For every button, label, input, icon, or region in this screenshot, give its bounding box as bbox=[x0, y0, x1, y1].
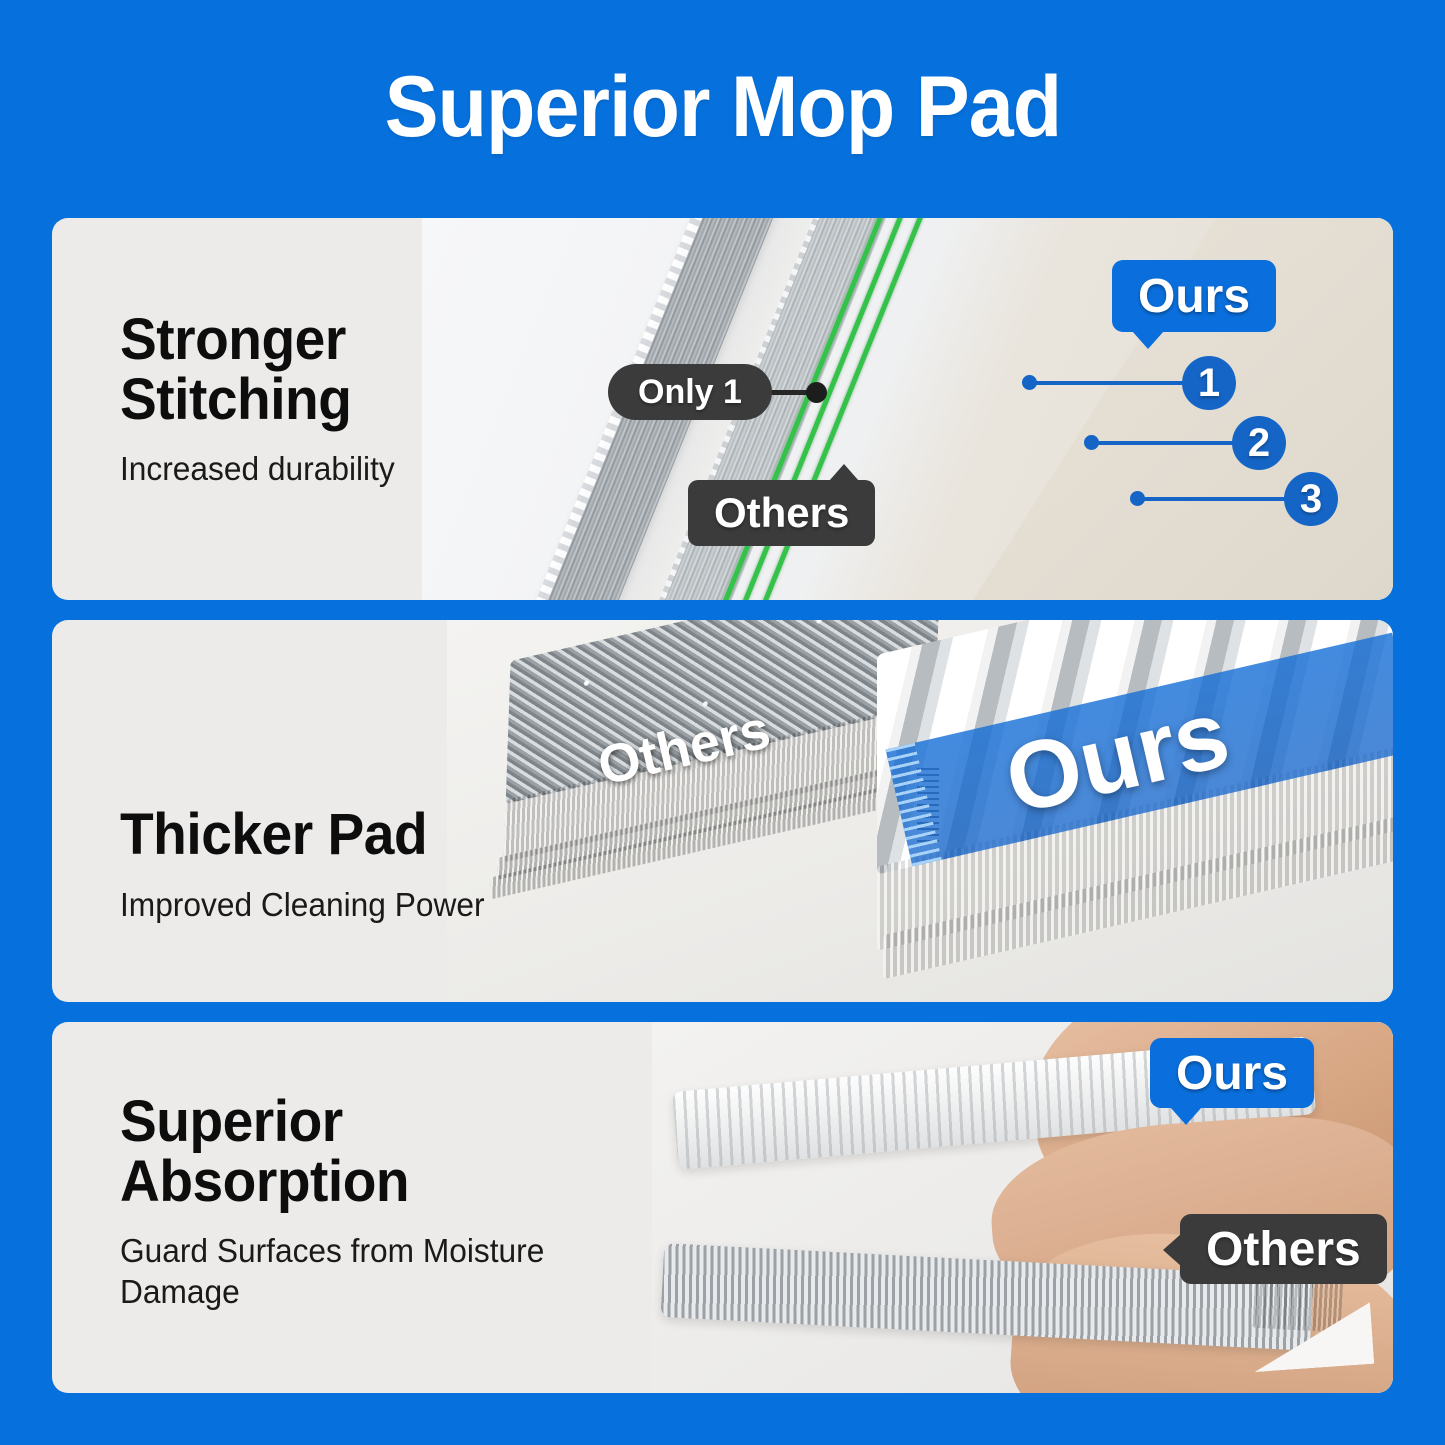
panel3-subtitle: Guard Surfaces from Moisture Damage bbox=[120, 1231, 658, 1312]
panel3-text-block: Superior Absorption Guard Surfaces from … bbox=[120, 1092, 680, 1312]
panel3-heading-line2: Absorption bbox=[120, 1152, 652, 1212]
panel1-heading-line2: Stitching bbox=[120, 370, 392, 430]
absorption-comparison-photo: Ours Others bbox=[652, 1022, 1393, 1393]
header-title-bar: Superior Mop Pad bbox=[0, 0, 1445, 214]
badge-ours-panel1: Ours bbox=[1112, 260, 1276, 332]
page-title: Superior Mop Pad bbox=[384, 64, 1061, 150]
badge-ours-panel3: Ours bbox=[1150, 1038, 1314, 1108]
badge-only-1: Only 1 bbox=[608, 364, 772, 420]
feature-panel-stronger-stitching: 1 2 3 Only 1 Others Ours Stronger Stitch… bbox=[52, 218, 1393, 600]
callout-number-1: 1 bbox=[1182, 356, 1236, 410]
thickness-comparison-photo: Others Ours bbox=[447, 620, 1393, 1002]
badge-others-panel1: Others bbox=[688, 480, 875, 546]
panel2-subtitle: Improved Cleaning Power bbox=[120, 885, 485, 925]
panel2-text-block: Thicker Pad Improved Cleaning Power bbox=[120, 805, 500, 925]
only-one-leader-dot bbox=[806, 382, 827, 403]
panel1-subtitle: Increased durability bbox=[120, 449, 395, 489]
feature-panel-superior-absorption: Ours Others Superior Absorption Guard Su… bbox=[52, 1022, 1393, 1393]
panel1-text-block: Stronger Stitching Increased durability bbox=[120, 310, 406, 490]
callout-line-2 bbox=[1094, 441, 1234, 445]
callout-line-3 bbox=[1140, 497, 1286, 501]
panel1-heading-line1: Stronger bbox=[120, 310, 392, 370]
badge-others-panel3: Others bbox=[1180, 1214, 1387, 1284]
callout-line-1 bbox=[1032, 381, 1184, 385]
callout-number-2: 2 bbox=[1232, 416, 1286, 470]
feature-panel-thicker-pad: Others Ours Thicker Pad Improved Cleanin… bbox=[52, 620, 1393, 1002]
stitching-comparison-photo: 1 2 3 Only 1 Others Ours bbox=[422, 218, 1393, 600]
panel3-heading-line1: Superior bbox=[120, 1092, 652, 1152]
callout-number-3: 3 bbox=[1284, 472, 1338, 526]
panel1-heading: Stronger Stitching bbox=[120, 310, 392, 429]
panel3-heading: Superior Absorption bbox=[120, 1092, 652, 1211]
panel2-heading: Thicker Pad bbox=[120, 805, 481, 865]
